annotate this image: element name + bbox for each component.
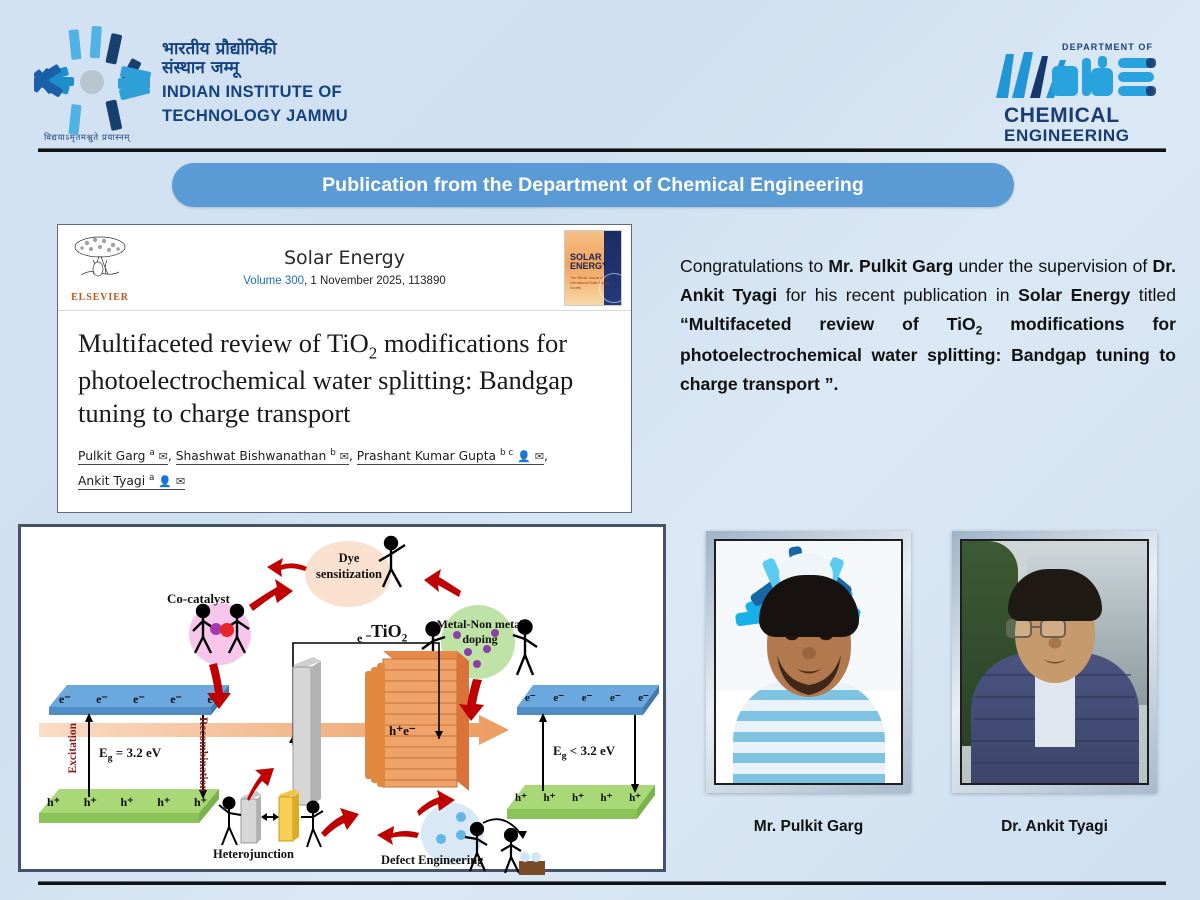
author-entry[interactable]: Ankit Tyagi a 👤 ✉ bbox=[78, 474, 185, 490]
portrait-image-ankit-tyagi bbox=[960, 539, 1149, 785]
paper-author-list: Pulkit Garg a ✉, Shashwat Bishwanathan b… bbox=[58, 430, 631, 493]
institute-name-hindi-line1: भारतीय प्रौद्योगिकी bbox=[162, 40, 348, 59]
iit-jammu-emblem-icon bbox=[34, 24, 154, 139]
congrats-student-name: Mr. Pulkit Garg bbox=[828, 256, 953, 276]
department-word-chemical: CHEMICAL bbox=[1004, 104, 1120, 128]
portrait-card-pulkit-garg bbox=[706, 531, 911, 793]
journal-header-strip: ELSEVIER Solar Energy Volume 300, 1 Nove… bbox=[58, 225, 631, 311]
envelope-icon[interactable]: ✉ bbox=[535, 450, 544, 463]
author-affiliation: b c bbox=[500, 448, 513, 458]
portrait-card-ankit-tyagi bbox=[952, 531, 1157, 793]
envelope-icon[interactable]: ✉ bbox=[340, 450, 349, 463]
portrait-caption-ankit-tyagi: Dr. Ankit Tyagi bbox=[952, 818, 1157, 836]
chemical-engineering-logo-block: DEPARTMENT OF bbox=[990, 28, 1170, 146]
institute-name-english-line1: INDIAN INSTITUTE OF bbox=[162, 83, 348, 102]
page-header: भारतीय प्रौद्योगिकी संस्थान जम्मू INDIAN… bbox=[0, 0, 1200, 150]
author-name: Prashant Kumar Gupta bbox=[357, 449, 496, 463]
header-divider-rule bbox=[38, 148, 1166, 152]
congrats-segment-3: for his recent publication in bbox=[777, 285, 1018, 305]
footer-divider-rule bbox=[38, 881, 1166, 885]
institute-motto: विद्ययाऽमृतमश्नुते प्रयास्नम् bbox=[44, 132, 130, 143]
author-entry[interactable]: Shashwat Bishwanathan b ✉ bbox=[176, 449, 349, 465]
journal-issue-detail: , 1 November 2025, 113890 bbox=[304, 275, 446, 287]
institute-name-english-line2: TECHNOLOGY JAMMU bbox=[162, 107, 348, 126]
paper-title-part1: Multifaceted review of TiO bbox=[78, 328, 369, 358]
cover-globe-icon bbox=[599, 273, 622, 303]
person-icon[interactable]: 👤 bbox=[158, 475, 172, 488]
banner-title: Publication from the Department of Chemi… bbox=[322, 174, 864, 197]
elsevier-wordmark: ELSEVIER bbox=[69, 292, 131, 303]
che-monogram-icon bbox=[990, 50, 1170, 102]
journal-volume-link[interactable]: Volume 300 bbox=[243, 275, 304, 287]
congrats-quoted-title-a: “Multifaceted review of TiO bbox=[680, 314, 976, 334]
cover-title: SOLAR ENERGY bbox=[570, 253, 608, 271]
author-name: Ankit Tyagi bbox=[78, 474, 145, 488]
author-separator: , bbox=[349, 449, 357, 463]
author-affiliation: b bbox=[330, 448, 336, 458]
iit-jammu-logo-block: भारतीय प्रौद्योगिकी संस्थान जम्मू INDIAN… bbox=[34, 24, 348, 139]
journal-issue-meta: Volume 300, 1 November 2025, 113890 bbox=[58, 275, 631, 287]
eyeglasses-bridge bbox=[1032, 626, 1042, 628]
paper-screenshot-card: ELSEVIER Solar Energy Volume 300, 1 Nove… bbox=[57, 224, 632, 513]
author-name: Pulkit Garg bbox=[78, 449, 145, 463]
journal-title: Solar Energy bbox=[58, 247, 631, 269]
congratulations-paragraph: Congratulations to Mr. Pulkit Garg under… bbox=[680, 252, 1176, 400]
portrait-image-pulkit-garg bbox=[714, 539, 903, 785]
congrats-journal-name: Solar Energy bbox=[1018, 285, 1130, 305]
graphical-abstract-panel: e⁻e⁻e⁻e⁻e⁻ h⁺h⁺h⁺h⁺h⁺ Excitation Recombi… bbox=[18, 524, 666, 872]
institute-name-hindi-line2: संस्थान जम्मू bbox=[162, 59, 348, 78]
author-entry[interactable]: Prashant Kumar Gupta b c 👤 ✉ bbox=[357, 449, 544, 465]
envelope-icon[interactable]: ✉ bbox=[159, 450, 168, 463]
eyeglasses-right-icon bbox=[1040, 619, 1066, 638]
red-flow-arrows bbox=[21, 527, 669, 875]
congrats-segment-2: under the supervision of bbox=[953, 256, 1152, 276]
congrats-segment-4: titled bbox=[1130, 285, 1176, 305]
department-word-engineering: ENGINEERING bbox=[1004, 126, 1130, 146]
author-name: Shashwat Bishwanathan bbox=[176, 449, 327, 463]
eyeglasses-left-icon bbox=[1006, 619, 1032, 638]
paper-title: Multifaceted review of TiO2 modification… bbox=[58, 311, 631, 430]
portrait-caption-pulkit-garg: Mr. Pulkit Garg bbox=[706, 818, 911, 836]
author-affiliation: a bbox=[149, 473, 154, 483]
publication-banner: Publication from the Department of Chemi… bbox=[172, 163, 1014, 207]
author-separator: , bbox=[168, 449, 176, 463]
author-affiliation: a bbox=[149, 448, 154, 458]
congrats-segment-1: Congratulations to bbox=[680, 256, 828, 276]
author-entry[interactable]: Pulkit Garg a ✉ bbox=[78, 449, 168, 465]
person-icon[interactable]: 👤 bbox=[517, 450, 531, 463]
envelope-icon[interactable]: ✉ bbox=[176, 475, 185, 488]
paper-title-subscript: 2 bbox=[369, 343, 377, 362]
journal-cover-thumbnail: SOLAR ENERGY The Official Journal of the… bbox=[564, 230, 622, 306]
author-separator: , bbox=[544, 449, 548, 463]
